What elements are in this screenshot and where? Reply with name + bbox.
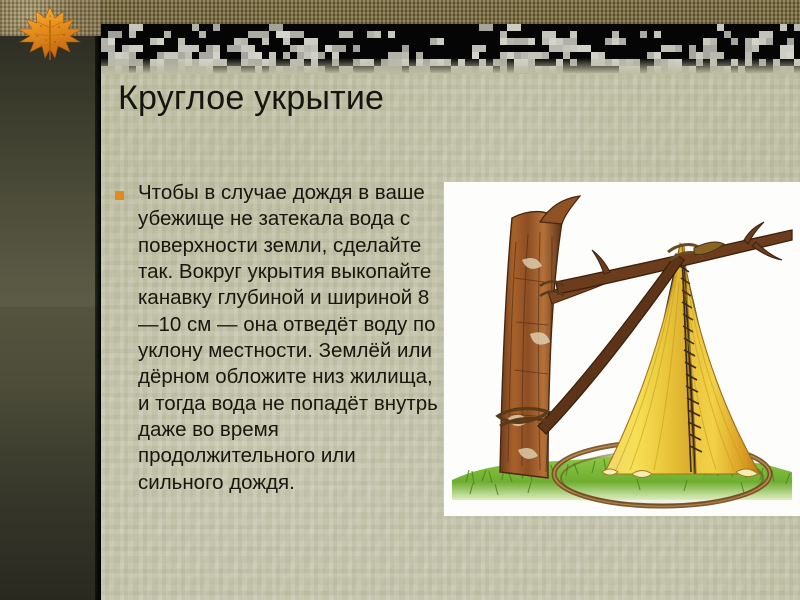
autumn-maple-leaf-icon	[10, 2, 90, 64]
left-sidebar	[0, 36, 101, 600]
bullet-item-text: Чтобы в случае дождя в ваше убежище не з…	[138, 180, 440, 496]
slide-root: Круглое укрытие Чтобы в случае дождя в в…	[0, 0, 800, 600]
round-shelter-illustration: Коническое укрытие из жердей у дерева с …	[444, 182, 800, 516]
bullet-list: Чтобы в случае дождя в ваше убежище не з…	[115, 180, 445, 496]
page-title: Круглое укрытие	[118, 78, 758, 119]
square-bullet-icon	[115, 191, 124, 200]
